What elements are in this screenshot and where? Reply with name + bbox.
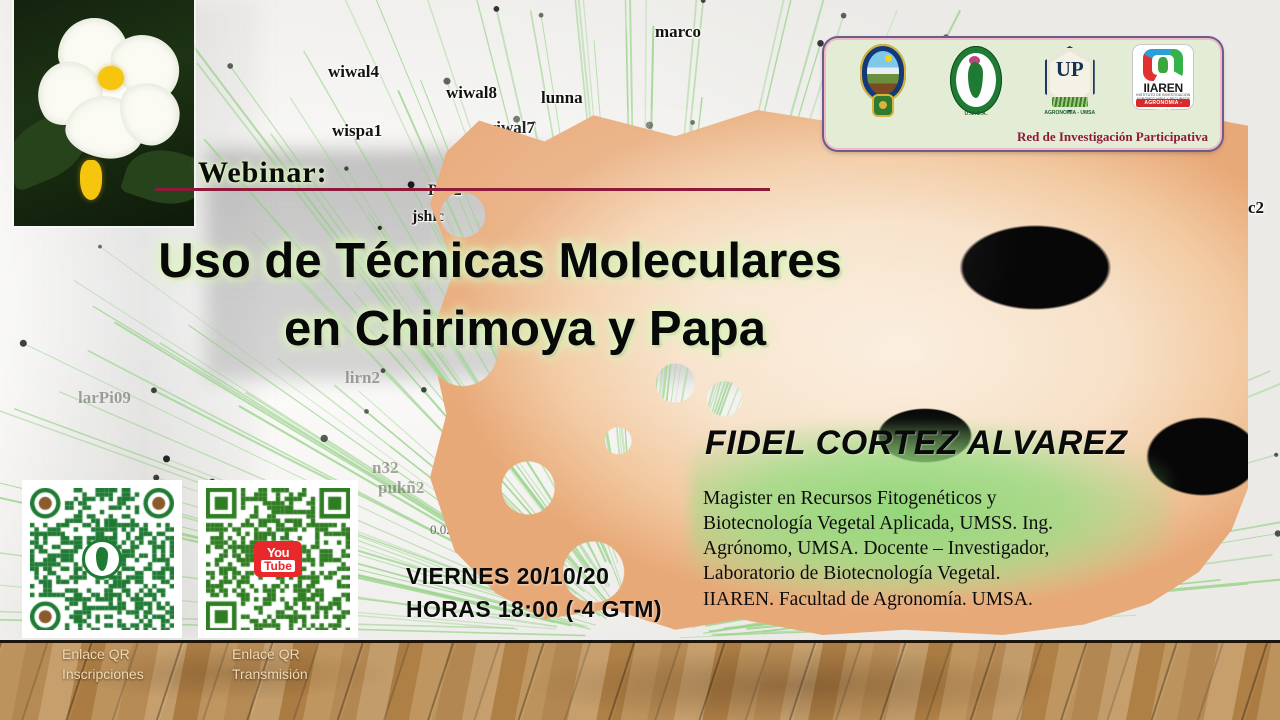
qr-caption-line-1: Enlace QR bbox=[62, 644, 144, 664]
qr-inscripciones-caption: Enlace QR Inscripciones bbox=[62, 644, 144, 685]
tree-tip-label: lunna bbox=[541, 88, 583, 108]
qr-transmision[interactable]: You Tube bbox=[198, 480, 358, 638]
bio-line: Magister en Recursos Fitogenéticos y bbox=[703, 486, 1148, 511]
youtube-bottom-text: Tube bbox=[261, 560, 295, 572]
bio-line: IIAREN. Facultad de Agronomía. UMSA. bbox=[703, 587, 1148, 612]
webinar-poster: marcowiwal4wiwal8lunnawispa1wiwal7alPuya… bbox=[0, 0, 1280, 720]
postgrado-seal-logo: UP AGRONOMIA - UMSA bbox=[1034, 44, 1106, 124]
institution-logo-banner: U.M.S.A. UP AGRONOMIA - UMSA IIAREN INST… bbox=[824, 38, 1222, 150]
umsa-seal-logo bbox=[847, 44, 919, 124]
qr-inscripciones-center-icon bbox=[82, 539, 122, 579]
logo-row: U.M.S.A. UP AGRONOMIA - UMSA IIAREN INST… bbox=[826, 40, 1220, 124]
bio-line: Biotecnología Vegetal Aplicada, UMSS. In… bbox=[703, 511, 1148, 536]
qr-caption-line-2: Transmisión bbox=[232, 664, 308, 684]
tree-tip-label: pukñ2 bbox=[378, 478, 424, 498]
tree-tip-label: wiwal8 bbox=[446, 83, 497, 103]
qr-inscripciones[interactable] bbox=[22, 480, 182, 638]
tree-tip-label: marco bbox=[655, 22, 701, 42]
qr-caption-line-1: Enlace QR bbox=[232, 644, 308, 664]
event-datetime: VIERNES 20/10/20 HORAS 18:00 (-4 GTM) bbox=[406, 560, 662, 625]
event-date: VIERNES 20/10/20 bbox=[406, 560, 662, 593]
qr-transmision-caption: Enlace QR Transmisión bbox=[232, 644, 308, 685]
tree-tip-label: wiwal4 bbox=[328, 62, 379, 82]
title-line-1: Uso de Técnicas Moleculares bbox=[158, 234, 842, 288]
page-title: Uso de Técnicas Moleculares en Chirimoya… bbox=[0, 228, 1000, 363]
bio-line: Laboratorio de Biotecnología Vegetal. bbox=[703, 561, 1148, 586]
network-caption: Red de Investigación Participativa bbox=[1017, 129, 1208, 145]
tree-tip-label: c2 bbox=[1248, 198, 1264, 218]
postgrado-monogram: UP bbox=[1042, 59, 1098, 80]
youtube-top-text: You bbox=[267, 546, 289, 559]
wood-footer-strip bbox=[0, 640, 1280, 720]
event-time: HORAS 18:00 (-4 GTM) bbox=[406, 593, 662, 626]
speaker-bio: Magister en Recursos Fitogenéticos yBiot… bbox=[703, 486, 1148, 612]
agronomia-seal-caption: U.M.S.A. bbox=[948, 111, 1004, 117]
qr-caption-line-2: Inscripciones bbox=[62, 664, 144, 684]
bio-line: Agrónomo, UMSA. Docente – Investigador, bbox=[703, 536, 1148, 561]
youtube-logo-icon: You Tube bbox=[254, 541, 302, 577]
speaker-name: FIDEL CORTEZ ALVAREZ bbox=[705, 424, 1128, 463]
iiaren-footer-bar: AGRONOMIA - UMSA bbox=[1136, 99, 1190, 107]
postgrado-seal-caption: AGRONOMIA - UMSA bbox=[1042, 110, 1098, 116]
title-line-2: en Chirimoya y Papa bbox=[0, 296, 1000, 364]
potato-flower-photo bbox=[14, 0, 194, 226]
tree-tip-label: larPi09 bbox=[78, 388, 131, 408]
tree-tip-label: wispa1 bbox=[332, 121, 382, 141]
iiaren-logo: IIAREN INSTITUTO DE INVESTIGACION AGROPE… bbox=[1127, 44, 1199, 124]
tree-tip-label: lirn2 bbox=[345, 368, 380, 388]
webinar-kicker: Webinar: bbox=[198, 156, 328, 190]
tree-tip-label: n32 bbox=[372, 458, 398, 478]
accent-divider-line bbox=[155, 188, 770, 191]
agronomia-seal-logo: U.M.S.A. bbox=[940, 44, 1012, 124]
